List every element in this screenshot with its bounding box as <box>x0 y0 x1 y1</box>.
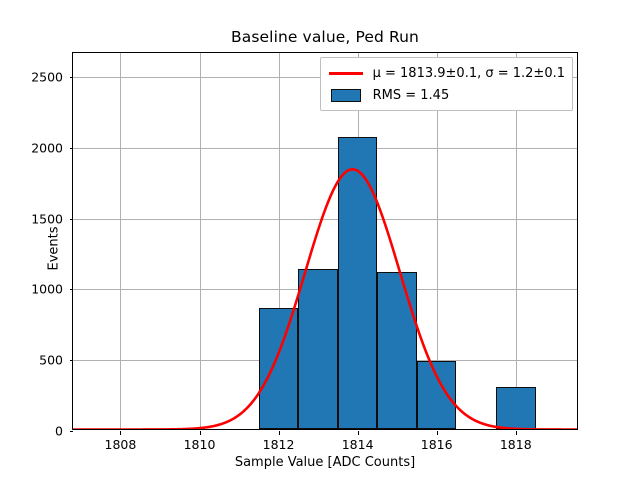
x-tick-label: 1816 <box>421 437 453 452</box>
legend-label-fit: μ = 1813.9±0.1, σ = 1.2±0.1 <box>373 66 565 81</box>
legend: μ = 1813.9±0.1, σ = 1.2±0.1 RMS = 1.45 <box>320 57 573 111</box>
x-tick <box>279 431 280 435</box>
y-tick-label: 0 <box>55 424 63 439</box>
y-tick-label: 2500 <box>31 70 63 85</box>
y-tick <box>70 431 74 432</box>
y-tick <box>70 148 74 149</box>
x-tick-label: 1808 <box>105 437 137 452</box>
legend-patch-swatch <box>328 88 364 102</box>
y-tick-label: 1500 <box>31 211 63 226</box>
x-tick <box>358 431 359 435</box>
y-tick-label: 2000 <box>31 140 63 155</box>
figure-canvas: Baseline value, Ped Run Events Sample Va… <box>0 0 640 480</box>
page-title: Baseline value, Ped Run <box>5 28 640 46</box>
plot-area: 1808181018121814181618180500100015002000… <box>72 52 578 430</box>
x-tick <box>516 431 517 435</box>
x-tick-label: 1818 <box>500 437 532 452</box>
x-tick-label: 1810 <box>184 437 216 452</box>
legend-line-swatch <box>328 66 364 80</box>
x-tick-label: 1812 <box>263 437 295 452</box>
y-tick <box>70 219 74 220</box>
x-axis-label: Sample Value [ADC Counts] <box>72 455 578 470</box>
legend-item-fit: μ = 1813.9±0.1, σ = 1.2±0.1 <box>328 63 565 83</box>
y-tick-label: 1000 <box>31 282 63 297</box>
x-tick <box>120 431 121 435</box>
y-tick <box>70 77 74 78</box>
x-tick <box>200 431 201 435</box>
x-tick-label: 1814 <box>342 437 374 452</box>
legend-item-histogram: RMS = 1.45 <box>328 85 565 105</box>
legend-label-histogram: RMS = 1.45 <box>373 88 450 103</box>
y-tick <box>70 360 74 361</box>
y-tick-label: 500 <box>39 353 63 368</box>
y-tick <box>70 289 74 290</box>
x-tick <box>437 431 438 435</box>
